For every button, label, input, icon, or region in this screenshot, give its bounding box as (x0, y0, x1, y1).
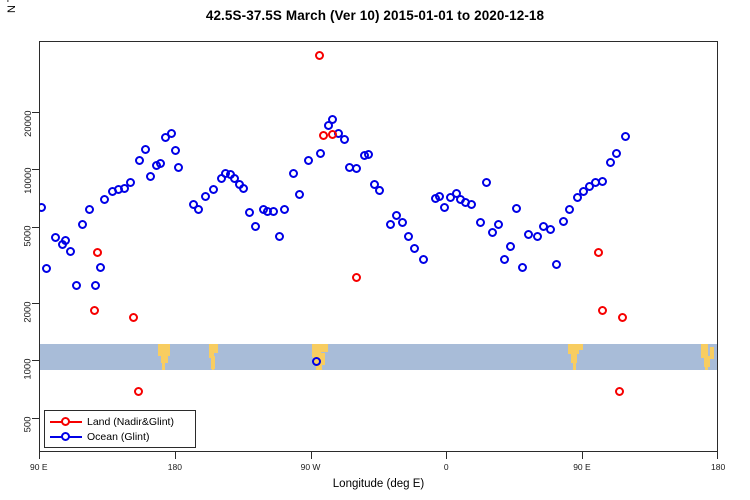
world-map-land-patch (579, 344, 584, 350)
chart-legend: Land (Nadir&Glint)Ocean (Glint) (44, 410, 196, 448)
x-axis-tick (311, 452, 312, 459)
data-point-ocean (364, 150, 373, 159)
x-axis-tick-label: 90 W (301, 462, 321, 472)
data-point-ocean (239, 184, 248, 193)
data-point-ocean (500, 255, 509, 264)
data-point-ocean (135, 156, 144, 165)
data-point-ocean (201, 192, 210, 201)
data-point-ocean (72, 281, 81, 290)
data-point-ocean (559, 217, 568, 226)
data-point-ocean (488, 228, 497, 237)
data-point-ocean (621, 132, 630, 141)
chart-root: 42.5S-37.5S March (Ver 10) 2015-01-01 to… (0, 0, 750, 500)
x-axis-tick (717, 452, 718, 459)
data-point-ocean (91, 281, 100, 290)
world-map-land-patch (705, 365, 708, 370)
data-point-ocean (546, 225, 555, 234)
data-point-ocean (146, 172, 155, 181)
data-point-ocean (598, 177, 607, 186)
data-point-land (90, 306, 99, 315)
legend-marker (49, 431, 83, 443)
data-point-land (129, 313, 138, 322)
chart-title: 42.5S-37.5S March (Ver 10) 2015-01-01 to… (0, 8, 750, 23)
data-point-ocean (209, 185, 218, 194)
data-point-ocean (289, 169, 298, 178)
legend-circle-icon (61, 432, 70, 441)
world-map-land-patch (710, 347, 715, 360)
data-point-ocean (295, 190, 304, 199)
legend-label: Ocean (Glint) (87, 431, 149, 443)
world-map-land-patch (162, 362, 165, 370)
legend-label: Land (Nadir&Glint) (87, 416, 174, 428)
world-map-land-patch (212, 365, 214, 370)
data-point-land (618, 313, 627, 322)
data-point-ocean (269, 207, 278, 216)
data-point-ocean (410, 244, 419, 253)
y-axis-tick-label: 500 (23, 416, 34, 432)
world-map-land-patch (573, 361, 576, 370)
x-axis-tick (582, 452, 583, 459)
data-point-ocean (100, 195, 109, 204)
data-point-ocean (156, 159, 165, 168)
data-point-land (319, 131, 328, 140)
data-point-ocean (518, 263, 527, 272)
data-point-ocean (340, 135, 349, 144)
data-point-ocean (85, 205, 94, 214)
data-point-land (93, 248, 102, 257)
data-point-ocean (386, 220, 395, 229)
y-axis-tick-label: 2000 (23, 301, 34, 322)
data-point-ocean (328, 115, 337, 124)
x-axis-tick-label: 90 E (573, 462, 591, 472)
data-point-ocean (533, 232, 542, 241)
data-point-ocean (467, 200, 476, 209)
data-point-ocean (375, 186, 384, 195)
y-axis-label: N Total (6, 0, 26, 246)
world-map-land-patch (321, 344, 329, 352)
data-point-land (615, 387, 624, 396)
data-point-ocean (280, 205, 289, 214)
x-axis-tick-label: 90 E (30, 462, 48, 472)
data-point-ocean (440, 203, 449, 212)
data-point-ocean (174, 163, 183, 172)
data-point-land (315, 51, 324, 60)
data-point-ocean (245, 208, 254, 217)
legend-marker (49, 416, 83, 428)
data-point-land (598, 306, 607, 315)
data-point-ocean (398, 218, 407, 227)
data-point-ocean (512, 204, 521, 213)
data-point-ocean (167, 129, 176, 138)
data-point-ocean (506, 242, 515, 251)
data-point-ocean (171, 146, 180, 155)
data-point-ocean (78, 220, 87, 229)
data-point-land (352, 273, 361, 282)
data-point-ocean (476, 218, 485, 227)
data-point-ocean (552, 260, 561, 269)
legend-item[interactable]: Land (Nadir&Glint) (49, 414, 191, 429)
data-point-ocean (304, 156, 313, 165)
world-map-land-patch (214, 344, 219, 353)
x-axis-label: Longitude (deg E) (39, 478, 718, 490)
data-point-ocean (606, 158, 615, 167)
data-point-ocean (96, 263, 105, 272)
data-point-ocean (404, 232, 413, 241)
data-point-ocean (316, 149, 325, 158)
x-axis-tick-label: 0 (444, 462, 449, 472)
data-point-ocean (194, 205, 203, 214)
data-point-ocean (275, 232, 284, 241)
data-point-ocean (612, 149, 621, 158)
data-point-ocean (352, 164, 361, 173)
legend-item[interactable]: Ocean (Glint) (49, 429, 191, 444)
legend-circle-icon (61, 417, 70, 426)
data-point-ocean (494, 220, 503, 229)
x-axis-tick-label: 180 (711, 462, 725, 472)
x-axis-tick (446, 452, 447, 459)
x-axis-tick (39, 452, 40, 459)
data-point-ocean (61, 236, 70, 245)
data-point-land (134, 387, 143, 396)
world-map-ocean-band (40, 344, 717, 370)
data-point-ocean (565, 205, 574, 214)
data-point-land (594, 248, 603, 257)
y-axis-tick-label: 1000 (23, 359, 34, 380)
data-point-ocean (42, 264, 51, 273)
plot-clip (40, 42, 717, 451)
x-axis-tick-label: 180 (168, 462, 182, 472)
x-axis-tick (175, 452, 176, 459)
data-point-ocean (141, 145, 150, 154)
plot-area (39, 41, 718, 452)
data-point-ocean (312, 357, 321, 366)
data-point-ocean (482, 178, 491, 187)
data-point-ocean (419, 255, 428, 264)
data-point-ocean (524, 230, 533, 239)
data-point-ocean (251, 222, 260, 231)
data-point-ocean (66, 247, 75, 256)
data-point-ocean (40, 203, 46, 212)
data-point-ocean (126, 178, 135, 187)
data-point-ocean (435, 192, 444, 201)
